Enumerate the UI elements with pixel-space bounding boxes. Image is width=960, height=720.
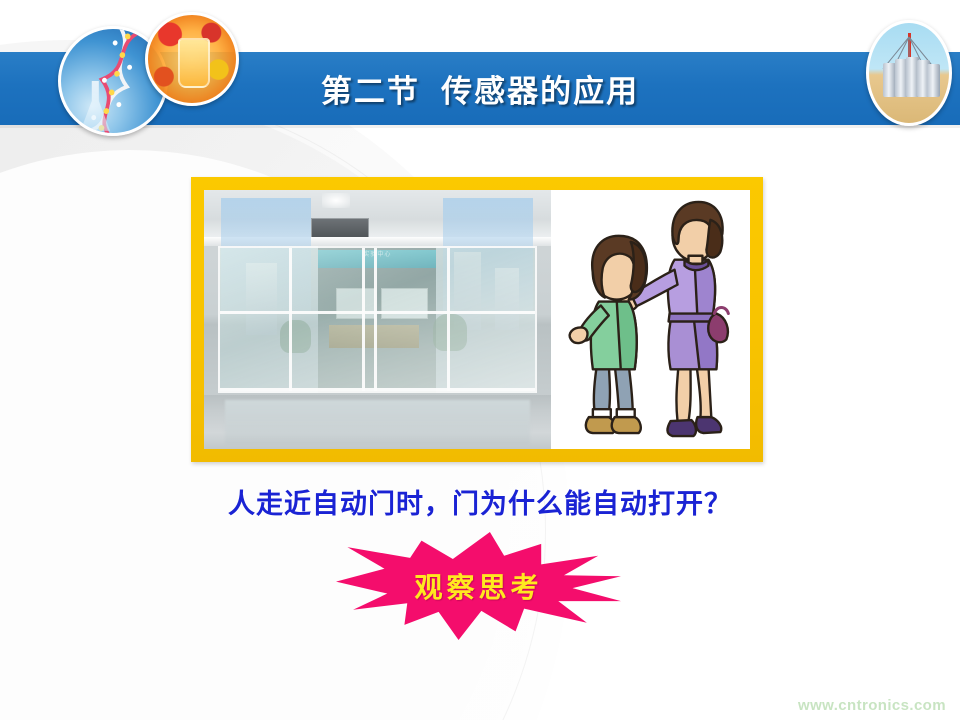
question-text: 人走近自动门时，门为什么能自动打开？ <box>0 482 960 521</box>
figure-frame: 实验中心 <box>191 177 763 462</box>
mother-and-child-cartoon <box>551 190 750 449</box>
juice-glass-icon <box>178 38 210 88</box>
door-rail <box>220 311 535 314</box>
mother-and-child-illustration <box>551 190 750 449</box>
door-mullion <box>362 248 365 392</box>
door-mullion <box>447 248 450 392</box>
door-mullion <box>289 248 292 392</box>
ceiling-light <box>322 193 350 209</box>
site-watermark: www.cntronics.com <box>798 697 946 714</box>
starburst-label: 观察思考 <box>336 532 621 640</box>
grain-silo-badge-icon <box>866 20 952 126</box>
automatic-sliding-door-photo: 实验中心 <box>204 190 551 449</box>
figure-inner: 实验中心 <box>204 190 750 449</box>
slide-canvas: 第二节 传感器的应用 <box>0 0 960 720</box>
door-center-gap <box>374 248 377 392</box>
fruit-juice-badge-icon <box>145 12 239 106</box>
floor-reflection <box>225 400 530 444</box>
sliding-glass-doors <box>218 246 537 394</box>
silo-tank <box>927 64 940 97</box>
observe-and-think-badge: 观察思考 <box>336 532 621 640</box>
door-bottom-rail <box>220 388 535 391</box>
